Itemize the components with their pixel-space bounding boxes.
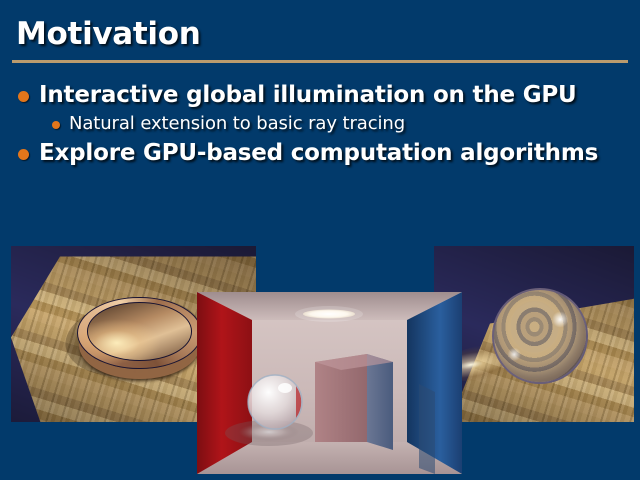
tall-box-side	[367, 354, 393, 450]
title-divider	[12, 60, 628, 63]
left-red-wall	[197, 292, 252, 474]
glass-sphere	[492, 288, 588, 384]
cornell-box-geometry	[197, 292, 462, 474]
figure-cornell-box	[197, 292, 462, 474]
sub-bullet-dot-icon	[52, 121, 60, 129]
bullet-dot-icon	[18, 149, 29, 160]
sub-bullet-text: Natural extension to basic ray tracing	[69, 113, 405, 134]
presentation-slide: Motivation Interactive global illuminati…	[0, 0, 640, 480]
bullet-dot-icon	[18, 91, 29, 102]
box-cast-shadow-right	[419, 384, 435, 474]
bullet-text: Explore GPU-based computation algorithms	[39, 140, 598, 166]
slide-title: Motivation	[16, 16, 201, 52]
bullet-text: Interactive global illumination on the G…	[39, 82, 577, 108]
bullet-item-1: Interactive global illumination on the G…	[0, 82, 640, 108]
cornell-box-render	[197, 292, 462, 474]
glass-ring-interior	[87, 302, 192, 360]
light-glow	[295, 306, 363, 322]
sphere-specular	[278, 383, 292, 393]
bullet-list: Interactive global illumination on the G…	[0, 76, 640, 166]
figure-glass-sphere-on-wood-floor	[434, 246, 634, 422]
bullet-item-2: Explore GPU-based computation algorithms	[0, 140, 640, 166]
bullet-item-1-sub-1: Natural extension to basic ray tracing	[0, 113, 640, 134]
